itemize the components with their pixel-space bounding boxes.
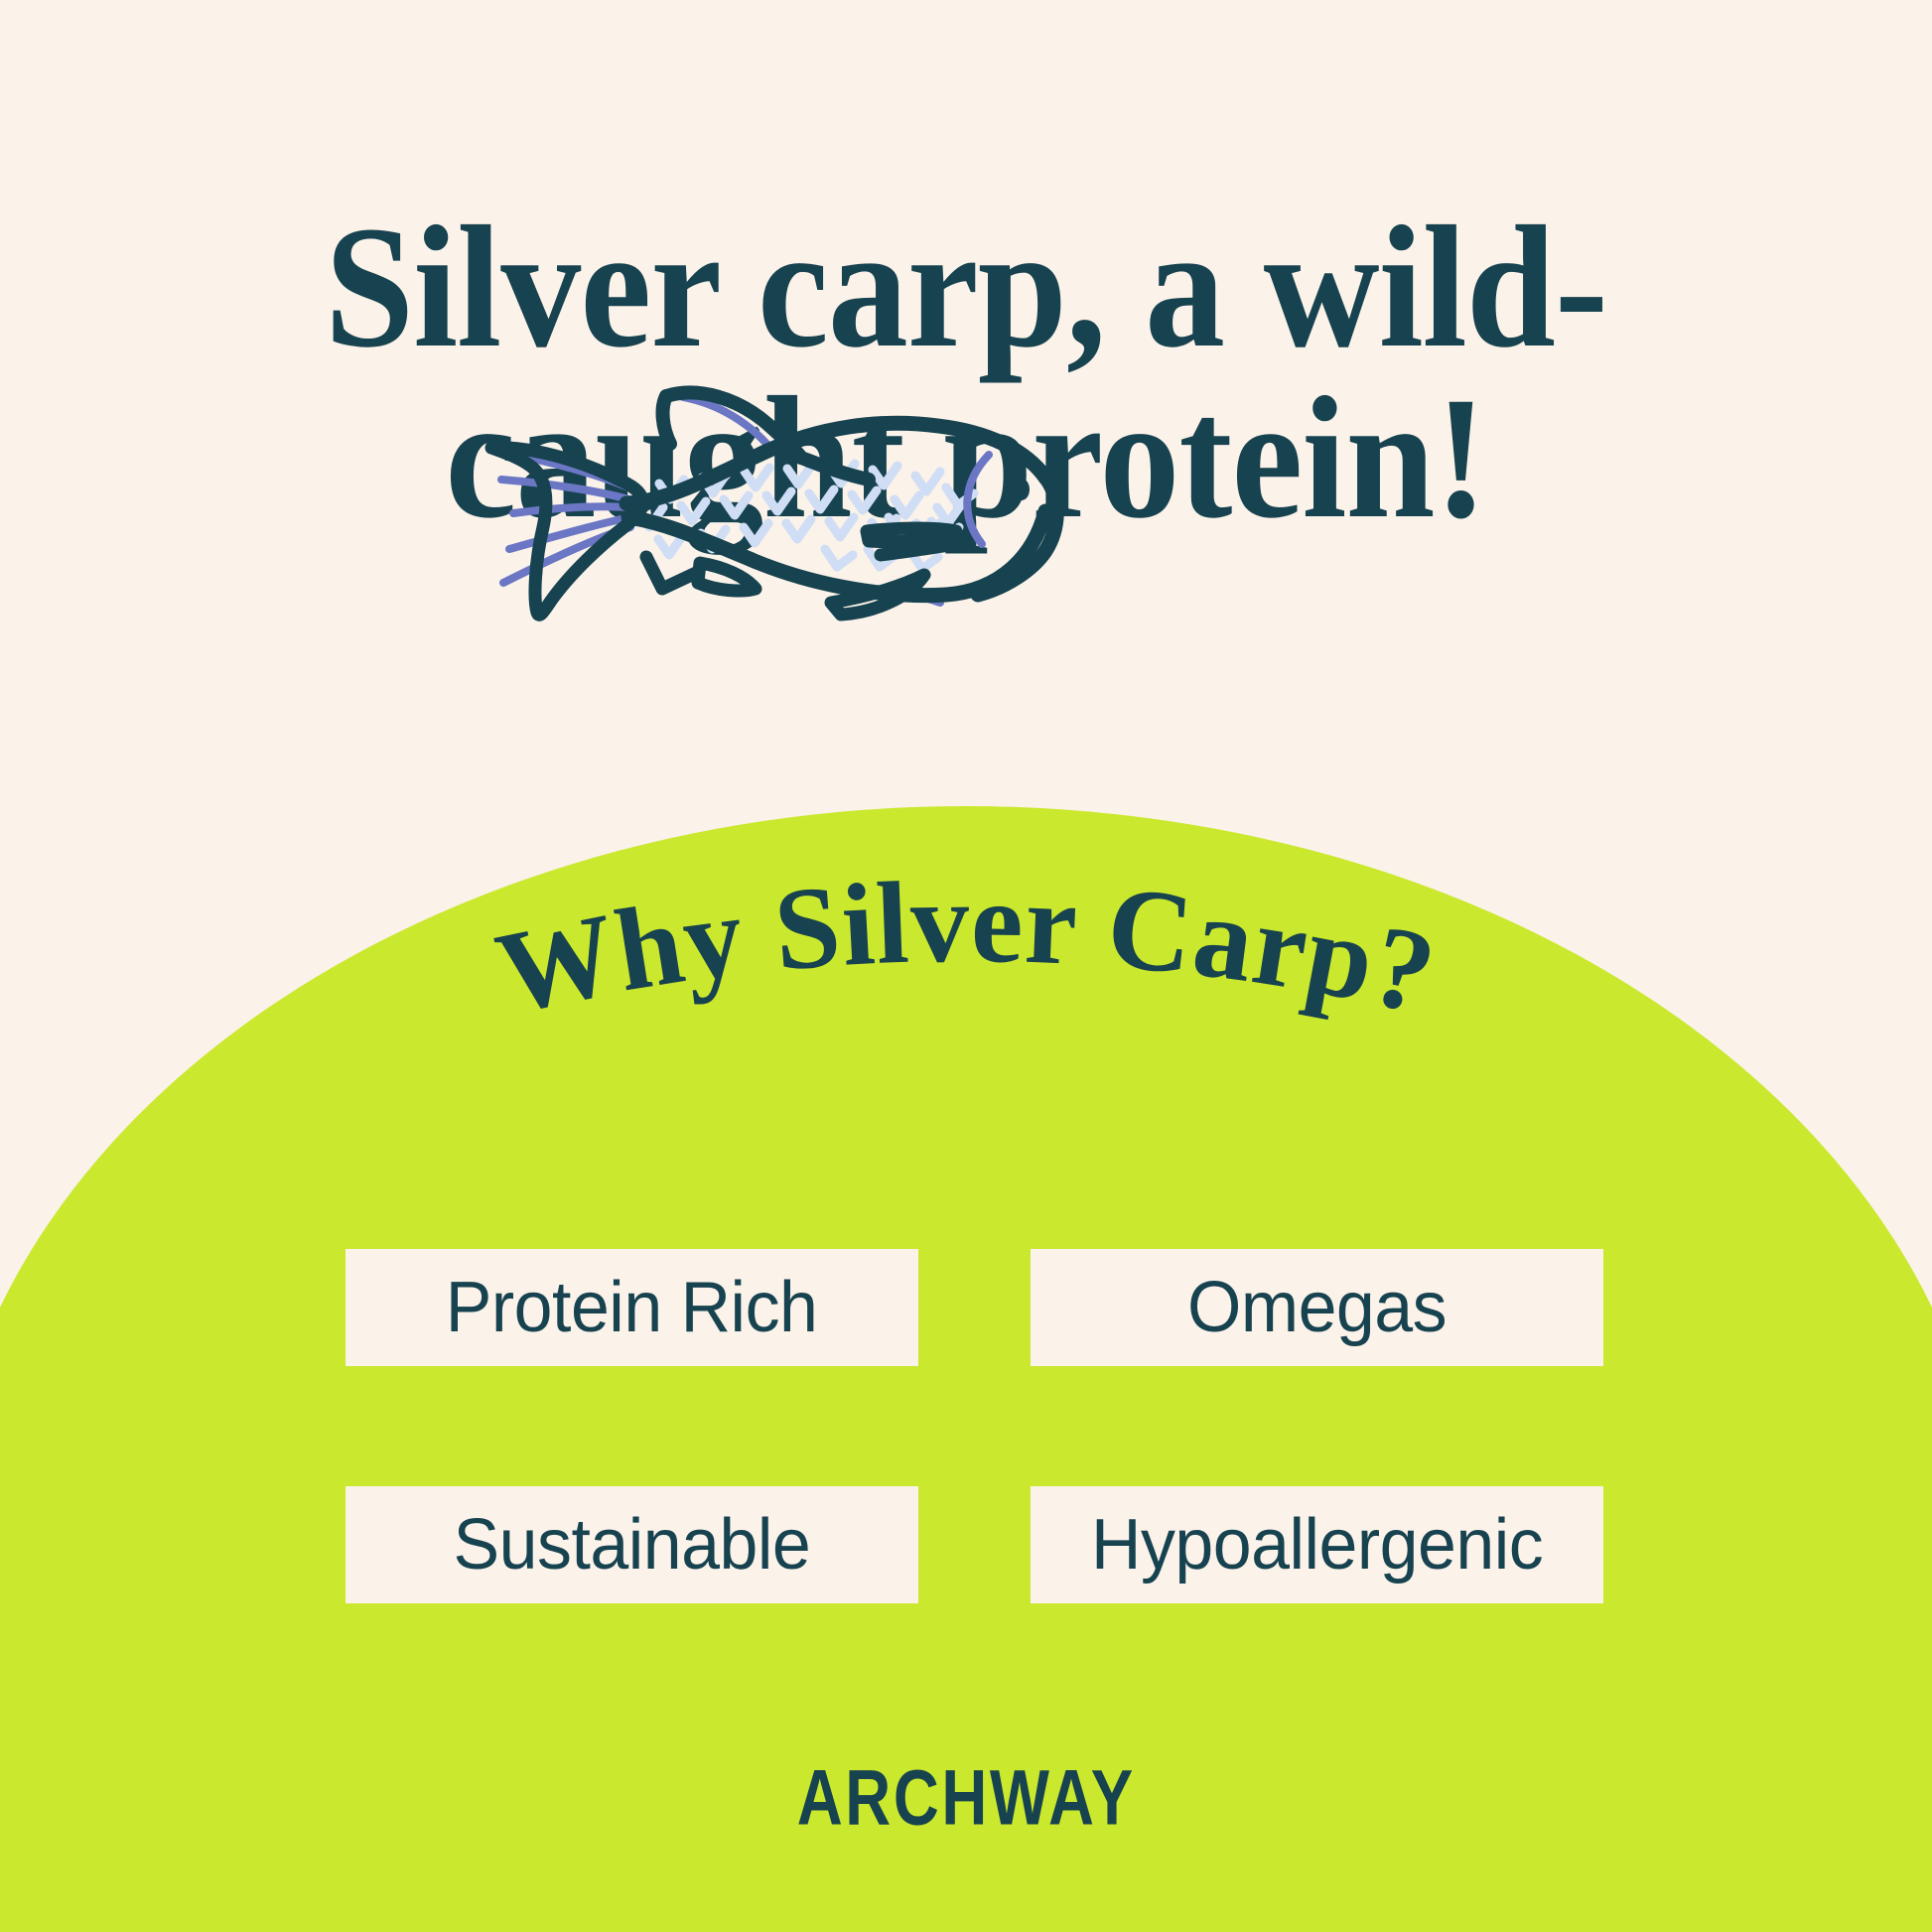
feature-card-label: Hypoallergenic	[1091, 1509, 1543, 1581]
poster-canvas: Silver carp, a wild- caught protein!	[0, 0, 1932, 1932]
feature-card-grid: Protein Rich Omegas Sustainable Hypoalle…	[345, 1249, 1606, 1603]
feature-card-hypoallergenic[interactable]: Hypoallergenic	[1031, 1486, 1603, 1603]
brand-wordmark: ARCHWAY	[796, 1752, 1135, 1842]
feature-card-label: Sustainable	[454, 1509, 811, 1581]
feature-card-protein-rich[interactable]: Protein Rich	[345, 1249, 918, 1366]
feature-card-sustainable[interactable]: Sustainable	[345, 1486, 918, 1603]
silver-carp-fish-illustration	[452, 352, 1127, 640]
feature-card-omegas[interactable]: Omegas	[1031, 1249, 1603, 1366]
feature-card-label: Omegas	[1187, 1272, 1447, 1343]
brand-logo: ARCHWAY	[0, 1755, 1932, 1840]
feature-card-label: Protein Rich	[446, 1272, 818, 1343]
